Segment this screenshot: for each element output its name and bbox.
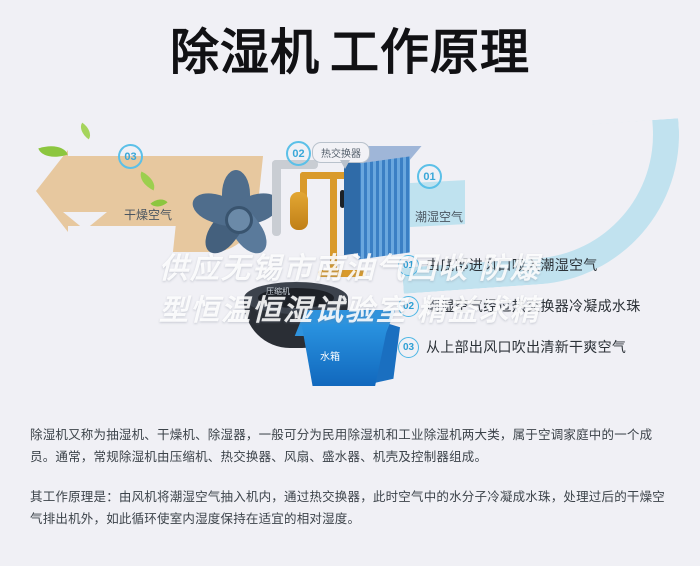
step-number-badge: 02: [398, 296, 419, 317]
callout-tail: [340, 160, 350, 169]
copper-pipe: [330, 176, 337, 276]
return-pipe: [272, 160, 281, 236]
heat-exchanger-fins: [358, 156, 410, 259]
dry-air-notch: [63, 212, 107, 230]
fan-hub: [225, 206, 253, 234]
step-number-badge: 01: [398, 255, 419, 276]
dry-air-label: 干燥空气: [124, 206, 172, 223]
step-text: 由底部进风口吸入潮湿空气: [426, 255, 598, 275]
steps-list: 01 由底部进风口吸入潮湿空气 02 潮湿空气经过热交换器冷凝成水珠 03 从上…: [398, 251, 688, 374]
fan-icon: [188, 168, 284, 264]
diagram-badge-03: 03: [118, 144, 143, 169]
description-paragraph-1: 除湿机又称为抽湿机、干燥机、除湿器，一般可分为民用除湿机和工业除湿机两大类，属于…: [30, 424, 674, 468]
diagram-badge-01: 01: [417, 164, 442, 189]
page-title-secondary: 工作原理: [330, 24, 530, 81]
refrigerant-accumulator: [290, 192, 308, 230]
diagram-badge-02: 02: [286, 141, 311, 166]
step-text: 从上部出风口吹出清新干爽空气: [426, 337, 626, 357]
water-tank-body: [296, 324, 388, 386]
moist-air-label: 潮湿空气: [415, 208, 463, 225]
description-block: 除湿机又称为抽湿机、干燥机、除湿器，一般可分为民用除湿机和工业除湿机两大类，属于…: [30, 424, 674, 544]
page-title: 除湿机工作原理: [0, 28, 700, 77]
copper-pipe: [318, 270, 366, 277]
water-tank-label: 水箱: [320, 348, 340, 363]
page-title-primary: 除湿机: [170, 24, 320, 81]
heat-exchanger-header: [344, 155, 360, 255]
infographic-page: 除湿机工作原理: [0, 0, 700, 566]
list-item: 01 由底部进风口吸入潮湿空气: [398, 251, 688, 279]
list-item: 03 从上部出风口吹出清新干爽空气: [398, 333, 688, 361]
list-item: 02 潮湿空气经过热交换器冷凝成水珠: [398, 292, 688, 320]
compressor-label: 压缩机: [266, 286, 290, 297]
description-paragraph-2: 其工作原理是：由风机将潮湿空气抽入机内，通过热交换器，此时空气中的水分子冷凝成水…: [30, 486, 674, 530]
step-text: 潮湿空气经过热交换器冷凝成水珠: [426, 296, 641, 316]
leaf-icon: [76, 123, 94, 140]
step-number-badge: 03: [398, 337, 419, 358]
